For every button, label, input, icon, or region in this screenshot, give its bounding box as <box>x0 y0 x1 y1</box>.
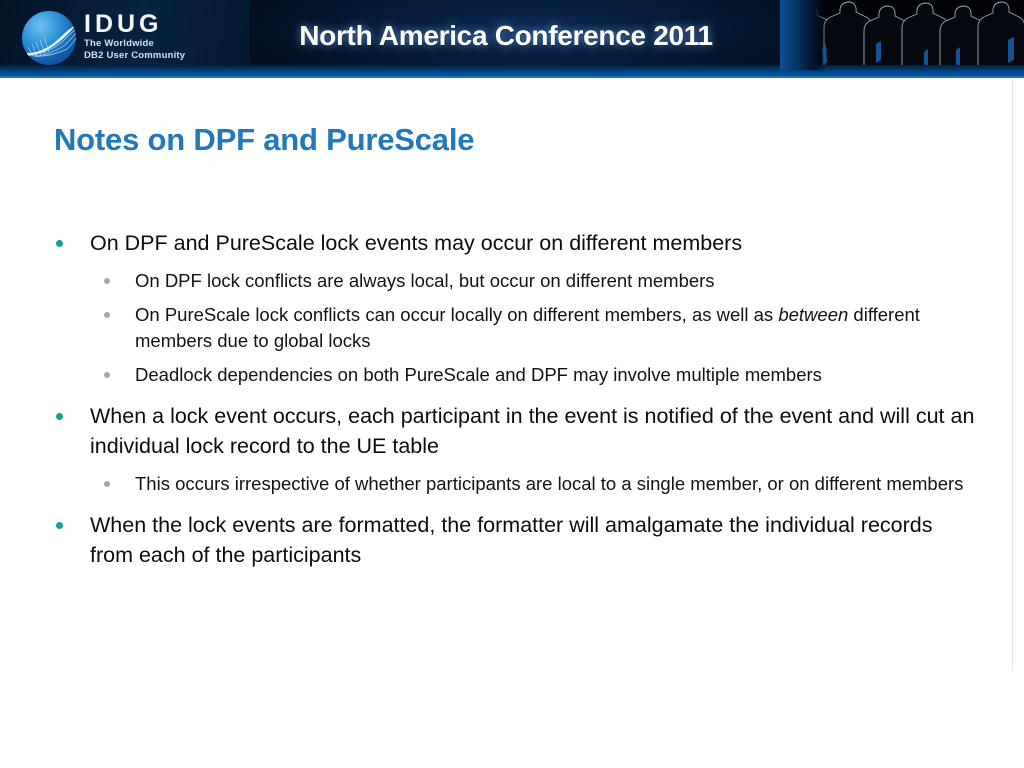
idug-logo-text: IDUG The Worldwide DB2 User Community <box>84 11 254 61</box>
bullet-dot-icon <box>56 413 63 420</box>
bullet-item-3: On PureScale lock conflicts can occur lo… <box>90 302 978 354</box>
bullet-text: On DPF lock conflicts are always local, … <box>135 270 715 291</box>
spacer <box>48 390 978 401</box>
bullet-item-5: When a lock event occurs, each participa… <box>48 401 978 461</box>
bullet-text: When a lock event occurs, each participa… <box>90 404 974 458</box>
bullet-text: When the lock events are formatted, the … <box>90 513 932 567</box>
idug-tagline-line1: The Worldwide <box>84 38 254 49</box>
people-silhouettes-image <box>780 0 1024 70</box>
bullet-dot-icon <box>56 522 63 529</box>
sub-bullet-dot-icon <box>104 312 110 318</box>
banner-bottom-rule <box>0 76 1024 78</box>
bullet-dot-icon <box>56 240 63 247</box>
silhouette-fade-overlay <box>780 0 826 70</box>
bullet-item-1: On DPF and PureScale lock events may occ… <box>48 228 978 258</box>
bullet-text: This occurs irrespective of whether part… <box>135 473 963 494</box>
slide-body: On DPF and PureScale lock events may occ… <box>48 228 978 574</box>
bullet-text: On DPF and PureScale lock events may occ… <box>90 231 742 255</box>
bullet-text-part-1: On PureScale lock conflicts can occur lo… <box>135 304 778 325</box>
page-edge-rule <box>1012 80 1013 670</box>
bullet-text-part-2-italic: between <box>778 304 848 325</box>
conference-title: North America Conference 2011 <box>256 20 756 52</box>
presentation-slide: IDUG The Worldwide DB2 User Community No… <box>0 0 1024 768</box>
idug-logo: IDUG The Worldwide DB2 User Community <box>22 7 252 69</box>
bullet-text: Deadlock dependencies on both PureScale … <box>135 364 822 385</box>
sub-bullet-dot-icon <box>104 481 110 487</box>
idug-swoosh-icon <box>22 11 76 65</box>
conference-banner: IDUG The Worldwide DB2 User Community No… <box>0 0 1024 78</box>
page-title: Notes on DPF and PureScale <box>54 122 474 158</box>
sub-bullet-dot-icon <box>104 372 110 378</box>
bullet-item-4: Deadlock dependencies on both PureScale … <box>90 362 978 388</box>
spacer <box>48 499 978 510</box>
idug-wordmark: IDUG <box>84 11 254 37</box>
bullet-item-2: On DPF lock conflicts are always local, … <box>90 268 978 294</box>
idug-tagline-line2: DB2 User Community <box>84 50 254 61</box>
bullet-item-6: This occurs irrespective of whether part… <box>90 471 978 497</box>
sub-bullet-dot-icon <box>104 278 110 284</box>
bullet-item-7: When the lock events are formatted, the … <box>48 510 978 570</box>
